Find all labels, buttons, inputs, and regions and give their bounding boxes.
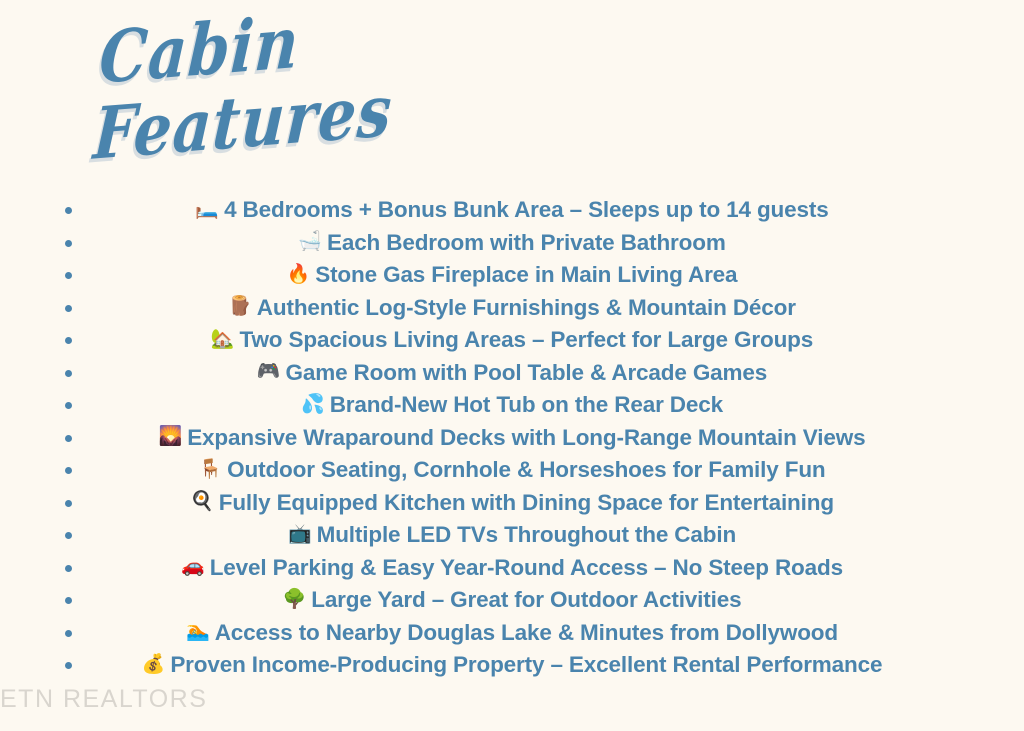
- bullet-dot-icon: [65, 467, 72, 474]
- chair-icon: 🪑: [198, 460, 222, 479]
- list-item: 💰Proven Income-Producing Property – Exce…: [0, 649, 1024, 682]
- video-game-controller-icon: 🎮: [257, 362, 281, 381]
- list-item: 🎮Game Room with Pool Table & Arcade Game…: [0, 357, 1024, 390]
- car-icon: 🚗: [181, 557, 205, 576]
- watermark: ETN REALTORS: [0, 685, 207, 714]
- list-item: 🔥Stone Gas Fireplace in Main Living Area: [0, 259, 1024, 292]
- bullet-dot-icon: [65, 272, 72, 279]
- water-droplets-icon: 💦: [301, 395, 325, 414]
- bullet-dot-icon: [65, 597, 72, 604]
- list-item-label: Stone Gas Fireplace in Main Living Area: [315, 259, 737, 292]
- cabin-features-slide: Cabin Features 🛏️4 Bedrooms + Bonus Bunk…: [0, 0, 1024, 731]
- bullet-dot-icon: [65, 435, 72, 442]
- list-item: 🍳Fully Equipped Kitchen with Dining Spac…: [0, 487, 1024, 520]
- list-item-label: Each Bedroom with Private Bathroom: [327, 227, 726, 260]
- list-item-label: Multiple LED TVs Throughout the Cabin: [317, 519, 736, 552]
- bullet-dot-icon: [65, 565, 72, 572]
- bullet-dot-icon: [65, 207, 72, 214]
- list-item: 🪵Authentic Log-Style Furnishings & Mount…: [0, 292, 1024, 325]
- fire-icon: 🔥: [287, 265, 311, 284]
- tree-icon: 🌳: [283, 590, 307, 609]
- bullet-dot-icon: [65, 305, 72, 312]
- bullet-dot-icon: [65, 240, 72, 247]
- bullet-dot-icon: [65, 370, 72, 377]
- list-item: 💦Brand-New Hot Tub on the Rear Deck: [0, 389, 1024, 422]
- bed-icon: 🛏️: [195, 200, 219, 219]
- list-item-label: Fully Equipped Kitchen with Dining Space…: [219, 487, 834, 520]
- bullet-dot-icon: [65, 630, 72, 637]
- feature-list: 🛏️4 Bedrooms + Bonus Bunk Area – Sleeps …: [0, 194, 1024, 682]
- list-item-label: Expansive Wraparound Decks with Long-Ran…: [187, 422, 865, 455]
- bullet-dot-icon: [65, 500, 72, 507]
- list-item-label: Level Parking & Easy Year-Round Access –…: [210, 552, 843, 585]
- list-item-label: Large Yard – Great for Outdoor Activitie…: [311, 584, 741, 617]
- list-item-label: Access to Nearby Douglas Lake & Minutes …: [215, 617, 838, 650]
- bullet-dot-icon: [65, 532, 72, 539]
- bathtub-icon: 🛁: [298, 232, 322, 251]
- sunrise-over-mountains-icon: 🌄: [159, 427, 183, 446]
- house-with-garden-icon: 🏡: [211, 330, 235, 349]
- list-item: 🛁Each Bedroom with Private Bathroom: [0, 227, 1024, 260]
- list-item: 📺Multiple LED TVs Throughout the Cabin: [0, 519, 1024, 552]
- page-title: Cabin Features: [96, 22, 656, 182]
- bullet-dot-icon: [65, 402, 72, 409]
- list-item-label: Two Spacious Living Areas – Perfect for …: [240, 324, 814, 357]
- wood-log-icon: 🪵: [228, 297, 252, 316]
- list-item-label: Brand-New Hot Tub on the Rear Deck: [330, 389, 723, 422]
- list-item: 🌳Large Yard – Great for Outdoor Activiti…: [0, 584, 1024, 617]
- list-item: 🚗Level Parking & Easy Year-Round Access …: [0, 552, 1024, 585]
- list-item-label: Authentic Log-Style Furnishings & Mounta…: [257, 292, 796, 325]
- television-icon: 📺: [288, 525, 312, 544]
- money-bag-icon: 💰: [142, 655, 166, 674]
- list-item: 🛏️4 Bedrooms + Bonus Bunk Area – Sleeps …: [0, 194, 1024, 227]
- list-item-label: 4 Bedrooms + Bonus Bunk Area – Sleeps up…: [224, 194, 829, 227]
- list-item: 🏊Access to Nearby Douglas Lake & Minutes…: [0, 617, 1024, 650]
- bullet-dot-icon: [65, 337, 72, 344]
- frying-pan-icon: 🍳: [190, 492, 214, 511]
- list-item: 🏡Two Spacious Living Areas – Perfect for…: [0, 324, 1024, 357]
- list-item: 🪑Outdoor Seating, Cornhole & Horseshoes …: [0, 454, 1024, 487]
- swimmer-icon: 🏊: [186, 622, 210, 641]
- list-item: 🌄Expansive Wraparound Decks with Long-Ra…: [0, 422, 1024, 455]
- list-item-label: Outdoor Seating, Cornhole & Horseshoes f…: [227, 454, 825, 487]
- bullet-dot-icon: [65, 662, 72, 669]
- list-item-label: Game Room with Pool Table & Arcade Games: [286, 357, 768, 390]
- list-item-label: Proven Income-Producing Property – Excel…: [170, 649, 882, 682]
